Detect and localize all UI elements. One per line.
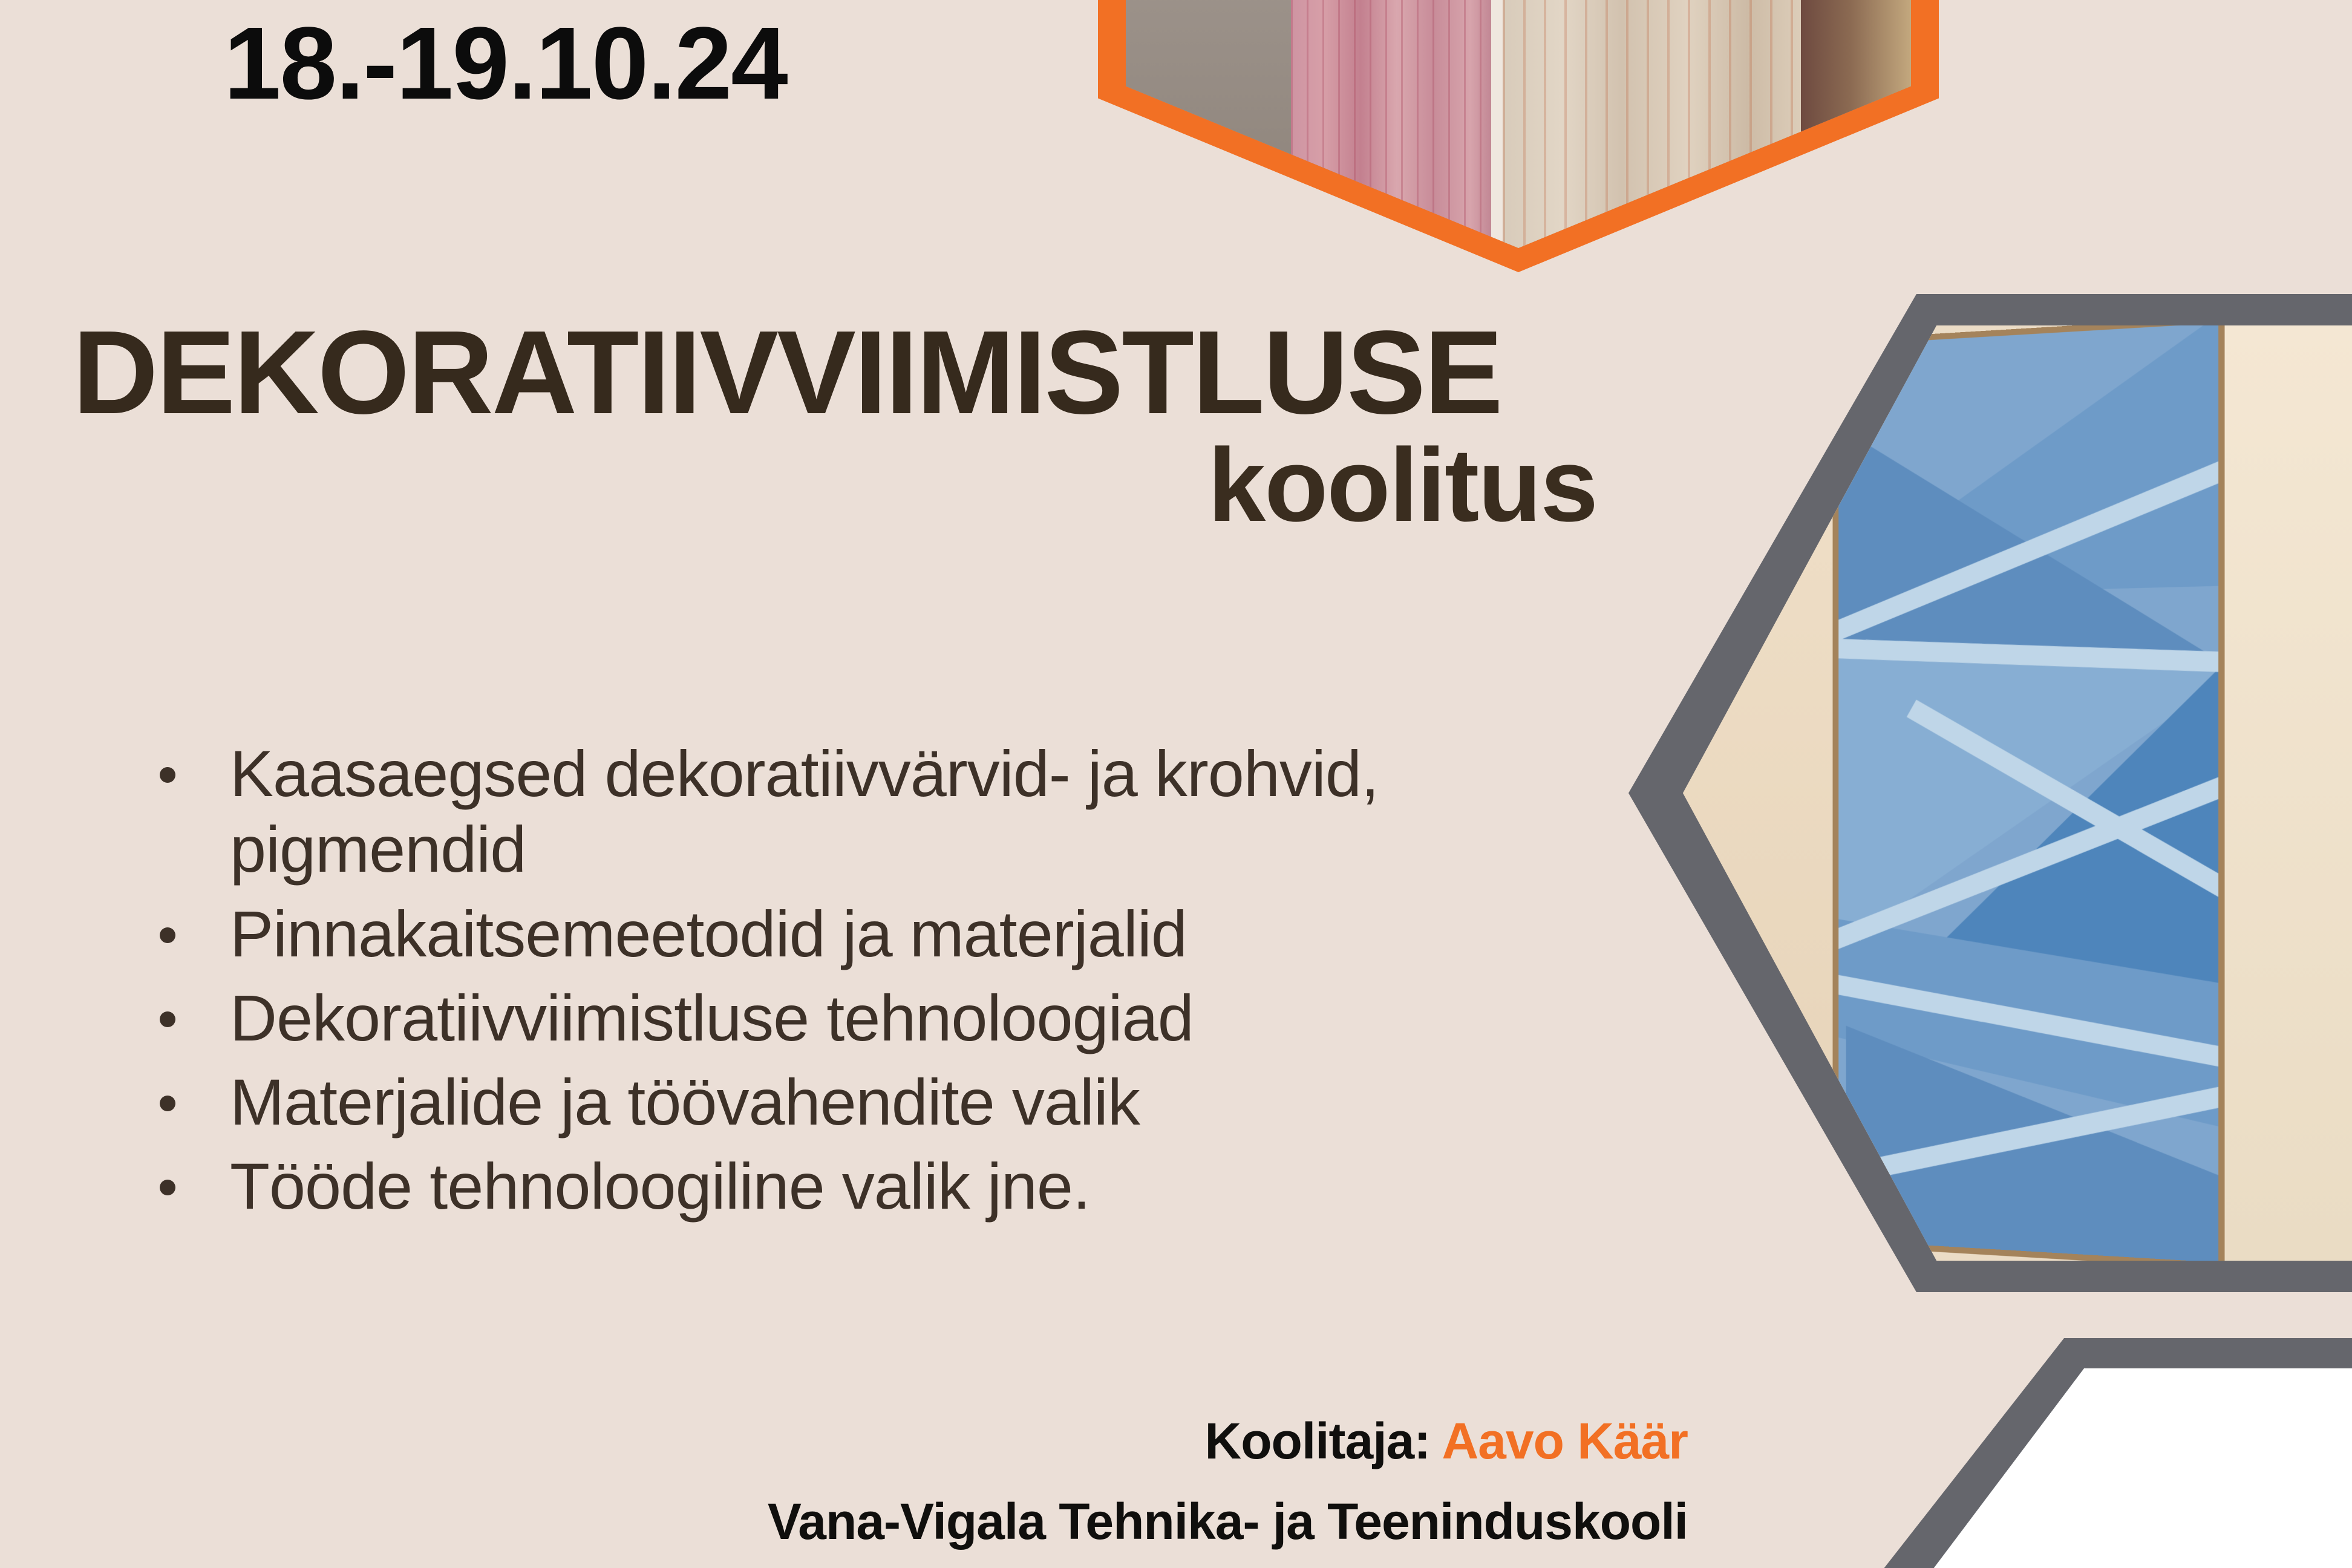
- list-item-label: Pinnakaitsemeetodid ja materjalid: [230, 897, 1187, 970]
- school-name: Vana-Vigala Tehnika- ja Teeninduskooli: [0, 1490, 1688, 1553]
- sketch-drawing-icon: [1845, 1368, 2352, 1568]
- hexagon-frame-top-orange: [1098, 0, 1939, 272]
- trainer-name: Aavo Käär: [1442, 1413, 1688, 1469]
- list-item: Pinnakaitsemeetodid ja materjalid: [151, 896, 1633, 972]
- page-subtitle: koolitus: [73, 431, 1857, 540]
- poster-canvas: 18.-19.10.24 DEKORATIIVVIIMISTLUSE kooli…: [0, 0, 2352, 1568]
- bullet-dot-icon: [160, 927, 175, 943]
- list-item: Kaasaegsed dekoratiivvärvid- ja krohvid,…: [151, 736, 1633, 887]
- list-item: Dekoratiivviimistluse tehnoloogiad: [151, 980, 1633, 1056]
- poster-title-block: DEKORATIIVVIIMISTLUSE koolitus: [73, 315, 1857, 540]
- photo-pink-panel: [1291, 0, 1495, 248]
- list-item: Materjalide ja töövahendite valik: [151, 1064, 1633, 1140]
- page-title: DEKORATIIVVIIMISTLUSE: [73, 315, 1857, 431]
- date-range: 18.-19.10.24: [224, 12, 787, 115]
- poster-footer: Koolitaja: Aavo Käär Vana-Vigala Tehnika…: [0, 1410, 1688, 1553]
- list-item: Tööde tehnoloogiline valik jne.: [151, 1148, 1633, 1224]
- hexagon-frame-bottom-gray: [1792, 1338, 2352, 1568]
- list-item-label: Tööde tehnoloogiline valik jne.: [230, 1149, 1090, 1223]
- course-topics-list: Kaasaegsed dekoratiivvärvid- ja krohvid,…: [151, 736, 1633, 1233]
- list-item-label: Materjalide ja töövahendite valik: [230, 1065, 1140, 1138]
- photo-beige-panel: [1503, 0, 1801, 248]
- photo-blue-panel: [1838, 325, 2218, 1261]
- photo-pencil-sketch: [1845, 1368, 2352, 1568]
- photo-right-edge: [1801, 0, 1911, 248]
- bullet-dot-icon: [160, 1011, 175, 1027]
- bullet-dot-icon: [160, 767, 175, 783]
- trainer-line: Koolitaja: Aavo Käär: [0, 1410, 1688, 1473]
- list-item-label: Kaasaegsed dekoratiivvärvid- ja krohvid,…: [230, 737, 1379, 886]
- bullet-dot-icon: [160, 1096, 175, 1111]
- photo-wall-right: [2206, 325, 2352, 1261]
- trainer-label: Koolitaja:: [1205, 1413, 1431, 1469]
- list-item-label: Dekoratiivviimistluse tehnoloogiad: [230, 981, 1194, 1054]
- bullet-dot-icon: [160, 1180, 175, 1195]
- photo-painted-wall-panels: [1126, 0, 1911, 248]
